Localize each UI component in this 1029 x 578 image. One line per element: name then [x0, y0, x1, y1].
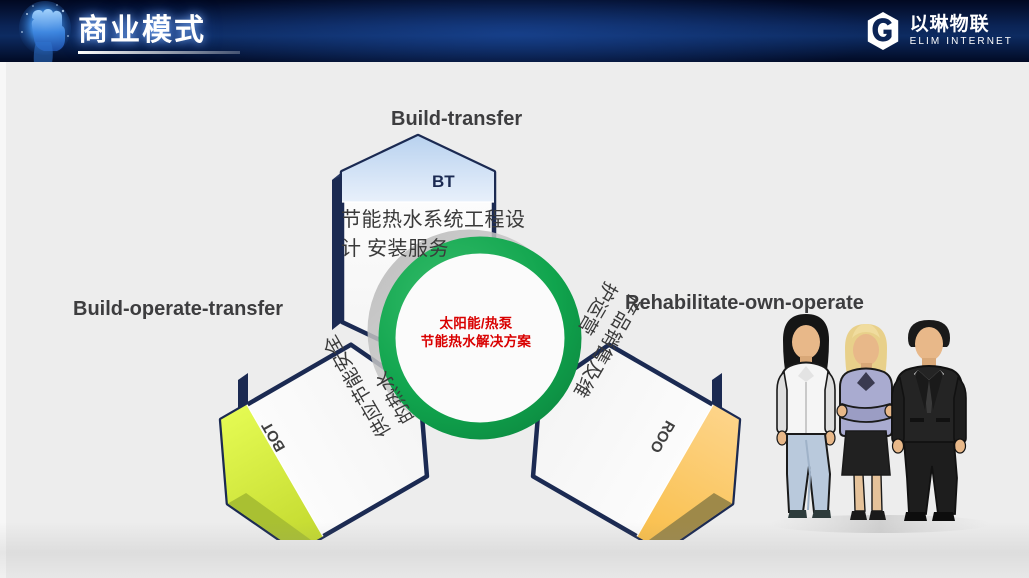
elim-logo-icon — [864, 11, 902, 51]
business-people-illustration — [760, 300, 1000, 535]
slide-header: 商业模式 以琳物联 ELIM INTERNET — [0, 0, 1029, 62]
hexagon-bt-code: BT — [432, 172, 455, 192]
bt-body-line2: 计 安装服务 — [341, 235, 555, 264]
center-line-2: 节能热水解决方案 — [401, 333, 551, 351]
center-ring-text: 太阳能/热泵 节能热水解决方案 — [401, 315, 551, 351]
page-title: 商业模式 — [78, 10, 206, 52]
logo-name-en: ELIM INTERNET — [910, 37, 1013, 47]
center-line-1: 太阳能/热泵 — [401, 315, 551, 333]
hexagon-bt-body-text: 节能热水系统工程设 计 安装服务 — [341, 206, 555, 264]
hexagon-label-bt: Build-transfer — [391, 108, 522, 131]
logo-text-block: 以琳物联 ELIM INTERNET — [910, 15, 1013, 47]
raised-fist-icon — [13, 0, 77, 62]
person-woman-lavender-jacket — [837, 324, 895, 520]
slide-canvas: 商业模式 以琳物联 ELIM INTERNET Build-transfer B… — [0, 0, 1029, 578]
brand-logo: 以琳物联 ELIM INTERNET — [864, 9, 1013, 53]
bt-body-line1: 节能热水系统工程设 — [341, 206, 555, 235]
person-man-black-suit — [892, 320, 966, 521]
title-underline — [78, 51, 240, 54]
person-woman-white-shirt — [777, 314, 835, 518]
logo-name-cn: 以琳物联 — [910, 15, 1013, 34]
left-edge-strip — [0, 62, 6, 578]
